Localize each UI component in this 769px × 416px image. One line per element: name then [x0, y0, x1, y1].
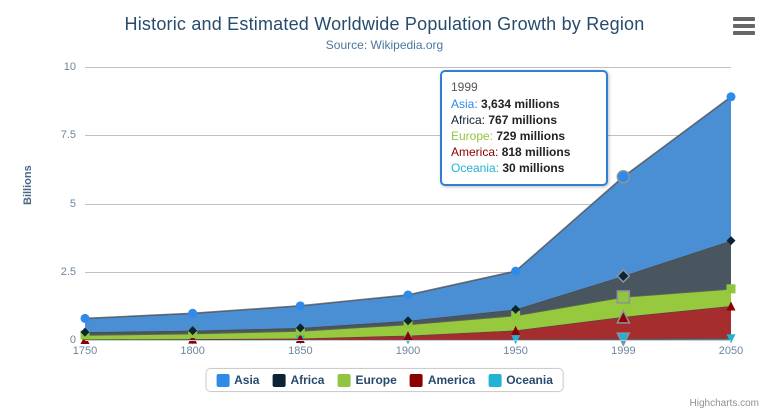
marker-asia[interactable]	[727, 92, 736, 101]
marker-asia[interactable]	[296, 301, 305, 310]
legend-item-asia[interactable]: Asia	[216, 373, 259, 387]
legend-swatch	[337, 374, 350, 387]
x-axis-line	[85, 340, 731, 341]
series-layer	[85, 67, 731, 340]
hamburger-menu-icon[interactable]	[733, 17, 755, 35]
chart-subtitle: Source: Wikipedia.org	[0, 38, 769, 52]
plot-area: 02.557.510	[85, 67, 731, 340]
legend-swatch	[272, 374, 285, 387]
legend-swatch	[410, 374, 423, 387]
legend-item-europe[interactable]: Europe	[337, 373, 396, 387]
legend-item-oceania[interactable]: Oceania	[488, 373, 553, 387]
marker-europe[interactable]	[617, 291, 629, 303]
menu-bar-3	[733, 31, 755, 35]
y-axis-tick-label: 2.5	[61, 266, 76, 278]
marker-europe[interactable]	[727, 284, 736, 293]
tooltip-row: Africa: 767 millions	[451, 112, 597, 128]
legend-label: Africa	[290, 373, 324, 387]
x-axis-tick-label: 2050	[719, 345, 743, 357]
y-axis-tick-label: 10	[64, 61, 76, 73]
marker-asia[interactable]	[617, 171, 629, 183]
tooltip-series-name: America:	[451, 145, 502, 159]
x-axis-tick-label: 1999	[611, 345, 635, 357]
tooltip-header: 1999	[451, 79, 597, 95]
tooltip-row: America: 818 millions	[451, 144, 597, 160]
legend-item-america[interactable]: America	[410, 373, 475, 387]
chart-legend[interactable]: AsiaAfricaEuropeAmericaOceania	[205, 368, 564, 392]
marker-asia[interactable]	[404, 290, 413, 299]
tooltip-row: Oceania: 30 millions	[451, 160, 597, 176]
tooltip-row: Asia: 3,634 millions	[451, 96, 597, 112]
marker-asia[interactable]	[188, 309, 197, 318]
menu-bar-2	[733, 24, 755, 28]
x-axis-tick-label: 1900	[396, 345, 420, 357]
tooltip-series-value: 30 millions	[502, 161, 564, 175]
legend-label: Asia	[234, 373, 259, 387]
legend-label: America	[428, 373, 475, 387]
legend-label: Europe	[355, 373, 396, 387]
chart-title: Historic and Estimated Worldwide Populat…	[0, 14, 769, 35]
x-axis-tick-label: 1800	[180, 345, 204, 357]
tooltip-series-value: 3,634 millions	[481, 97, 560, 111]
tooltip-row: Europe: 729 millions	[451, 128, 597, 144]
marker-asia[interactable]	[81, 314, 90, 323]
x-axis-tick-label: 1750	[73, 345, 97, 357]
highcharts-container: Historic and Estimated Worldwide Populat…	[0, 0, 769, 416]
tooltip-series-name: Africa:	[451, 113, 488, 127]
tooltip-series-value: 729 millions	[496, 129, 565, 143]
marker-asia[interactable]	[511, 267, 520, 276]
tooltip-rows: Asia: 3,634 millionsAfrica: 767 millions…	[451, 96, 597, 176]
x-axis-tick-label: 1950	[503, 345, 527, 357]
legend-label: Oceania	[506, 373, 553, 387]
tooltip-series-name: Oceania:	[451, 161, 502, 175]
tooltip-series-name: Asia:	[451, 97, 481, 111]
tooltip-series-value: 818 millions	[502, 145, 571, 159]
tooltip-series-value: 767 millions	[488, 113, 557, 127]
y-axis-tick-label: 7.5	[61, 129, 76, 141]
y-axis-tick-label: 5	[70, 198, 76, 210]
legend-item-africa[interactable]: Africa	[272, 373, 324, 387]
credits-link[interactable]: Highcharts.com	[690, 398, 759, 409]
menu-bar-1	[733, 17, 755, 21]
y-axis-title: Billions	[22, 165, 34, 205]
tooltip: 1999 Asia: 3,634 millionsAfrica: 767 mil…	[440, 70, 608, 186]
legend-swatch	[488, 374, 501, 387]
x-axis-tick-label: 1850	[288, 345, 312, 357]
tooltip-series-name: Europe:	[451, 129, 496, 143]
legend-swatch	[216, 374, 229, 387]
